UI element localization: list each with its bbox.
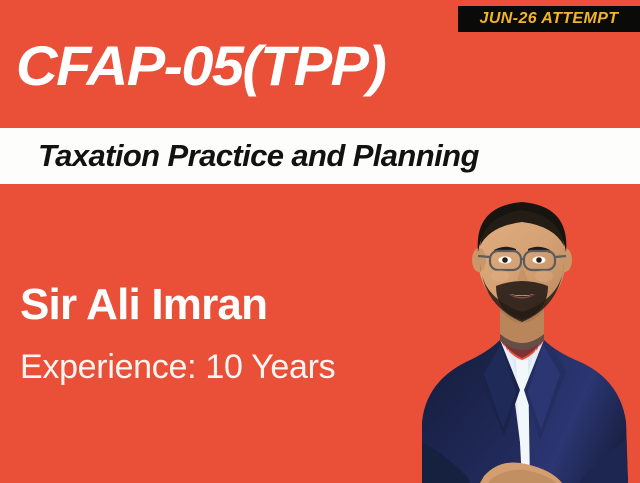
instructor-photo (404, 190, 640, 483)
instructor-portrait-illustration (404, 190, 640, 483)
course-subtitle: Taxation Practice and Planning (38, 138, 479, 174)
course-poster: JUN-26 ATTEMPT CFAP-05(TPP) Taxation Pra… (0, 0, 640, 483)
instructor-name: Sir Ali Imran (20, 283, 267, 327)
course-code-title: CFAP-05(TPP) (16, 38, 385, 94)
instructor-experience: Experience: 10 Years (20, 350, 335, 384)
attempt-badge: JUN-26 ATTEMPT (458, 6, 640, 32)
attempt-badge-label: JUN-26 ATTEMPT (480, 10, 619, 28)
subtitle-band: Taxation Practice and Planning (0, 128, 640, 184)
